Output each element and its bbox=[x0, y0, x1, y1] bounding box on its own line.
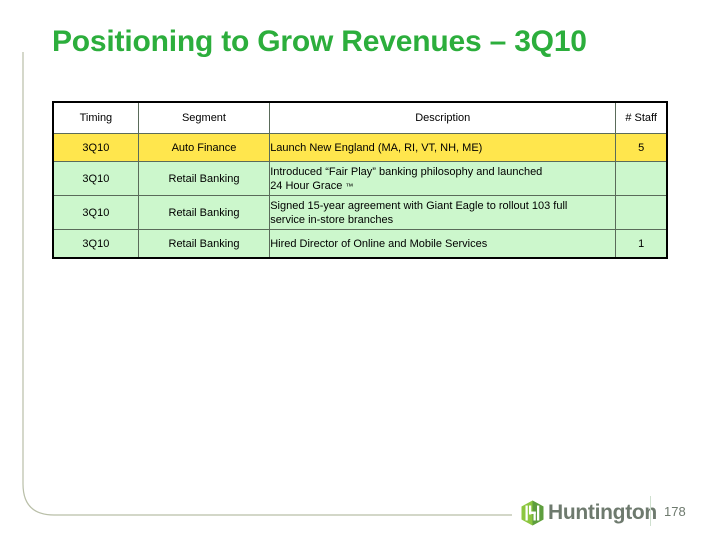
cell-staff: 1 bbox=[616, 230, 667, 259]
trademark-symbol: ™ bbox=[345, 182, 353, 191]
initiatives-table: Timing Segment Description # Staff 3Q10 … bbox=[52, 101, 668, 259]
cell-timing: 3Q10 bbox=[53, 162, 138, 196]
slide-canvas: Positioning to Grow Revenues – 3Q10 Timi… bbox=[0, 0, 720, 540]
column-header-timing: Timing bbox=[53, 102, 138, 134]
table-row: 3Q10 Retail Banking Signed 15-year agree… bbox=[53, 196, 667, 230]
description-line: service in-store branches bbox=[270, 213, 615, 227]
description-line: Launch New England (MA, RI, VT, NH, ME) bbox=[270, 141, 615, 155]
cell-segment: Retail Banking bbox=[138, 162, 269, 196]
page-title: Positioning to Grow Revenues – 3Q10 bbox=[52, 24, 702, 60]
page-number: 178 bbox=[664, 504, 686, 519]
table-body: 3Q10 Auto Finance Launch New England (MA… bbox=[53, 134, 667, 259]
cell-description: Hired Director of Online and Mobile Serv… bbox=[270, 230, 616, 259]
cell-segment: Retail Banking bbox=[138, 230, 269, 259]
table-row: 3Q10 Auto Finance Launch New England (MA… bbox=[53, 134, 667, 162]
column-header-segment: Segment bbox=[138, 102, 269, 134]
column-header-staff: # Staff bbox=[616, 102, 667, 134]
cell-timing: 3Q10 bbox=[53, 230, 138, 259]
description-line: Introduced “Fair Play” banking philosoph… bbox=[270, 165, 615, 179]
cell-timing: 3Q10 bbox=[53, 196, 138, 230]
description-text: 24 Hour Grace bbox=[270, 180, 345, 192]
cell-staff: 5 bbox=[616, 134, 667, 162]
table-row: 3Q10 Retail Banking Hired Director of On… bbox=[53, 230, 667, 259]
cell-staff bbox=[616, 196, 667, 230]
table-header: Timing Segment Description # Staff bbox=[53, 102, 667, 134]
huntington-hexagon-logo-icon bbox=[521, 500, 544, 526]
cell-segment: Auto Finance bbox=[138, 134, 269, 162]
brand-logo: Huntington bbox=[521, 498, 657, 528]
cell-description: Launch New England (MA, RI, VT, NH, ME) bbox=[270, 134, 616, 162]
footer-divider bbox=[650, 496, 651, 526]
cell-description: Signed 15-year agreement with Giant Eagl… bbox=[270, 196, 616, 230]
cell-timing: 3Q10 bbox=[53, 134, 138, 162]
description-line: 24 Hour Grace ™ bbox=[270, 179, 615, 193]
cell-staff bbox=[616, 162, 667, 196]
cell-segment: Retail Banking bbox=[138, 196, 269, 230]
initiatives-table-container: Timing Segment Description # Staff 3Q10 … bbox=[52, 101, 668, 259]
brand-name: Huntington bbox=[548, 502, 657, 524]
table-header-row: Timing Segment Description # Staff bbox=[53, 102, 667, 134]
description-line: Hired Director of Online and Mobile Serv… bbox=[270, 237, 615, 251]
decorative-rule bbox=[0, 0, 720, 540]
cell-description: Introduced “Fair Play” banking philosoph… bbox=[270, 162, 616, 196]
description-line: Signed 15-year agreement with Giant Eagl… bbox=[270, 199, 615, 213]
column-header-description: Description bbox=[270, 102, 616, 134]
table-row: 3Q10 Retail Banking Introduced “Fair Pla… bbox=[53, 162, 667, 196]
